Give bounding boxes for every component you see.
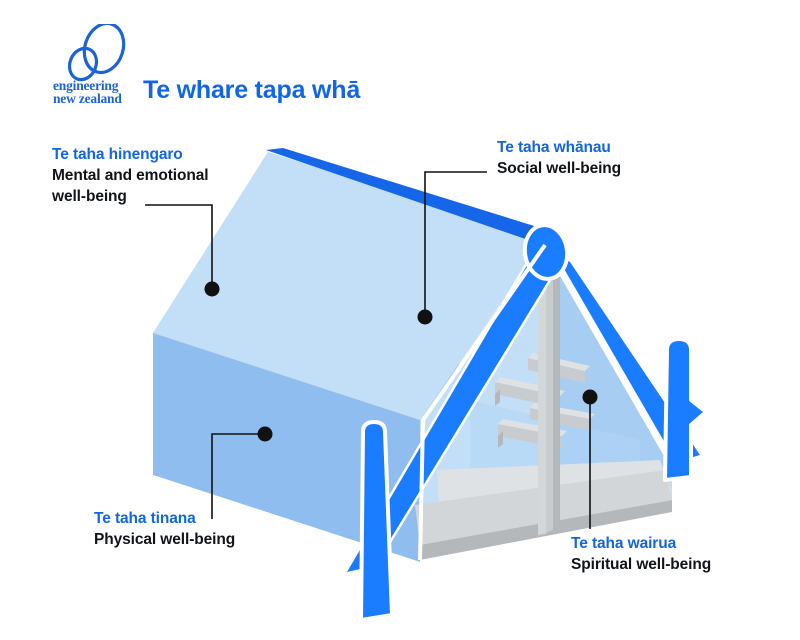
leader-tinana xyxy=(212,434,258,519)
diagram-canvas: engineering new zealand Te whare tapa wh… xyxy=(0,0,800,640)
logo-wordmark: engineering new zealand xyxy=(53,80,139,105)
callout-wairua-english: Spiritual well-being xyxy=(571,554,711,575)
interior-floor xyxy=(268,372,545,520)
callout-wairua: Te taha wairua Spiritual well-being xyxy=(571,533,711,575)
maihi-left xyxy=(347,250,556,572)
logo-mark-icon xyxy=(52,24,138,82)
heke-crossbars xyxy=(495,353,595,448)
callout-tinana: Te taha tinana Physical well-being xyxy=(94,508,235,550)
roof-gable-seam xyxy=(420,245,545,560)
callout-dots xyxy=(205,282,598,442)
callout-hinengaro: Te taha hinengaro Mental and emotional w… xyxy=(52,144,208,207)
front-gable-wall xyxy=(420,250,672,558)
koruru-apex-figure xyxy=(521,222,570,281)
back-roof-plane xyxy=(268,152,545,392)
amo-left-post xyxy=(361,422,392,620)
interior-back-wall xyxy=(268,300,545,452)
leader-hinengaro xyxy=(145,205,212,282)
callout-tinana-maori: Te taha tinana xyxy=(94,508,235,529)
callout-whanau-english: Social well-being xyxy=(497,158,621,179)
callout-wairua-maori: Te taha wairua xyxy=(571,533,711,554)
callout-whanau-maori: Te taha whānau xyxy=(497,137,621,158)
near-roof-slope xyxy=(153,152,545,420)
gable-interior-panel xyxy=(470,400,640,505)
maihi-right xyxy=(552,248,700,462)
dot-wairua xyxy=(583,390,598,405)
dot-whanau xyxy=(418,310,433,325)
callout-leader-lines xyxy=(145,172,590,529)
page-title: Te whare tapa whā xyxy=(143,76,360,105)
interior-back-wall-shade xyxy=(408,348,545,452)
dot-tinana xyxy=(258,427,273,442)
maihi-right-fill xyxy=(552,248,700,462)
poutokomanawa-centre-pole xyxy=(538,265,560,536)
front-gable-shade xyxy=(545,250,672,500)
amo-right-post xyxy=(665,339,706,480)
engineering-new-zealand-logo[interactable]: engineering new zealand xyxy=(52,24,138,106)
callout-hinengaro-english: Mental and emotional well-being xyxy=(52,165,208,207)
maihi-left-fill xyxy=(347,250,556,572)
roof-eave-seam xyxy=(153,333,545,420)
callout-hinengaro-maori: Te taha hinengaro xyxy=(52,144,208,165)
gable-interior-floor xyxy=(437,460,672,522)
leader-whanau xyxy=(425,172,487,310)
callout-whanau: Te taha whānau Social well-being xyxy=(497,137,621,179)
callout-tinana-english: Physical well-being xyxy=(94,529,235,550)
header: engineering new zealand Te whare tapa wh… xyxy=(0,0,800,130)
dot-hinengaro xyxy=(205,282,220,297)
